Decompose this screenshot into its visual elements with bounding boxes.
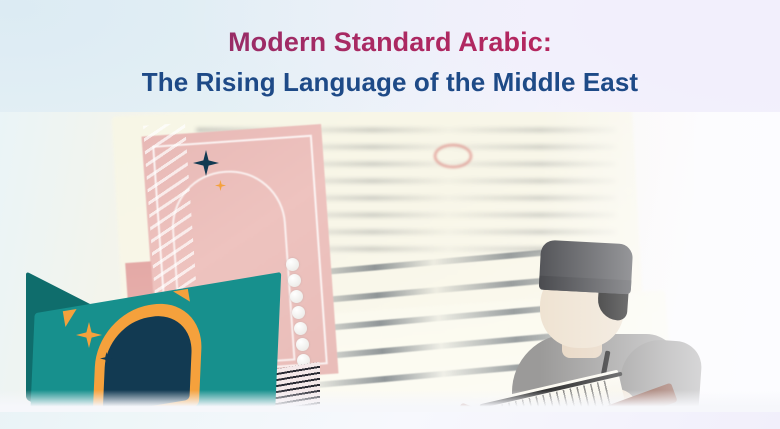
banner-canvas: Modern Standard Arabic: The Rising Langu… [0, 0, 780, 429]
bottom-fade-overlay [0, 390, 780, 412]
orange-sparkle-tiny-icon [215, 180, 226, 191]
illustration-collage [0, 112, 780, 412]
banner-title-block: Modern Standard Arabic: The Rising Langu… [0, 0, 780, 98]
red-verse-marker-icon [434, 144, 472, 168]
navy-sparkle-small-icon [100, 352, 113, 365]
page-title-secondary: The Rising Language of the Middle East [0, 67, 780, 98]
navy-sparkle-top-icon [193, 150, 219, 176]
book-corner-ornament-right [173, 289, 190, 304]
orange-sparkle-large-icon [76, 322, 102, 348]
right-fade-overlay [540, 112, 780, 412]
page-title-primary: Modern Standard Arabic: [0, 27, 780, 58]
